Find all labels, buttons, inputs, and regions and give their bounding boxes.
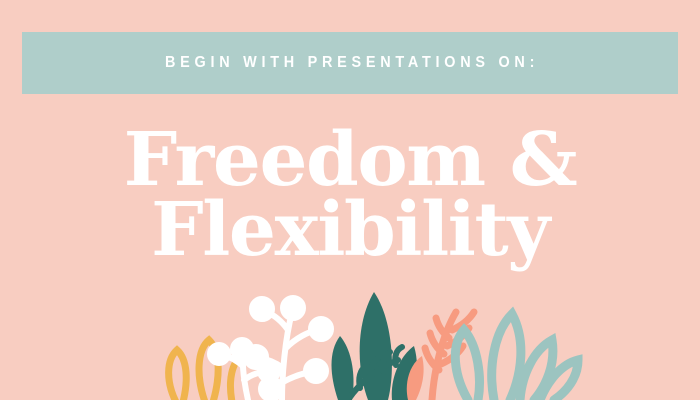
page-title-line-1: Freedom & xyxy=(0,126,700,196)
dark-teal-frond-left-icon xyxy=(332,336,354,400)
white-berry-sprig-center-icon xyxy=(246,298,331,400)
botanical-illustration xyxy=(0,270,700,400)
poster-canvas: BEGIN WITH PRESENTATIONS ON: Freedom & F… xyxy=(0,0,700,400)
page-title: Freedom & Flexibility xyxy=(0,126,700,265)
eyebrow-banner: BEGIN WITH PRESENTATIONS ON: xyxy=(22,32,678,94)
page-title-line-2: Flexibility xyxy=(0,196,700,266)
eyebrow-banner-label: BEGIN WITH PRESENTATIONS ON: xyxy=(161,55,540,71)
botanical-svg xyxy=(0,270,700,400)
sage-leaf-outline-far-right-icon xyxy=(540,360,578,400)
coral-fern-right-icon xyxy=(425,312,474,400)
